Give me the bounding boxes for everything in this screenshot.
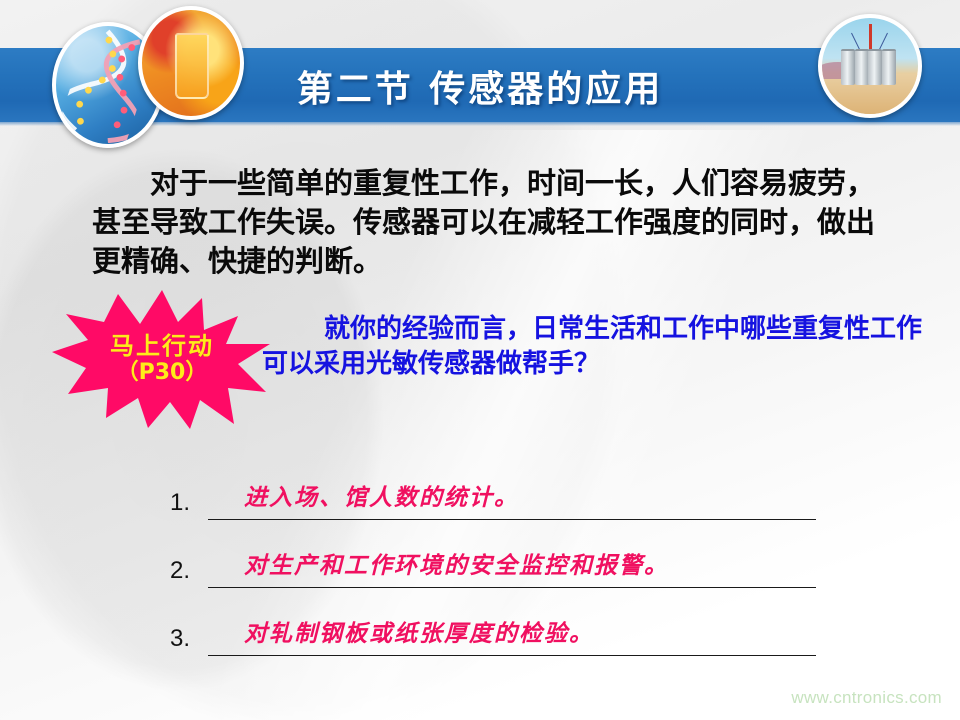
answer-text-2: 对生产和工作环境的安全监控和报警。 xyxy=(244,546,669,580)
silo-tank-1 xyxy=(841,49,855,85)
answer-underline-3 xyxy=(208,655,816,656)
answer-list: 1. 进入场、馆人数的统计。 2. 对生产和工作环境的安全监控和报警。 3. 对… xyxy=(170,452,870,656)
answer-number-2: 2. xyxy=(170,557,190,585)
callout-text: 马上行动 （P30） xyxy=(52,288,272,430)
answer-row-2: 2. 对生产和工作环境的安全监控和报警。 xyxy=(170,520,870,588)
question-text: 就你的经验而言，日常生活和工作中哪些重复性工作可以采用光敏传感器做帮手？ xyxy=(262,312,922,382)
callout-starburst: 马上行动 （P30） xyxy=(52,288,272,430)
callout-line-1: 马上行动 xyxy=(110,332,214,360)
answer-row-1: 1. 进入场、馆人数的统计。 xyxy=(170,452,870,520)
juice-glass-shape xyxy=(175,33,208,98)
answer-text-1: 进入场、馆人数的统计。 xyxy=(244,478,519,512)
answer-row-3: 3. 对轧制钢板或纸张厚度的检验。 xyxy=(170,588,870,656)
site-watermark: www.cntronics.com xyxy=(791,688,942,708)
answer-text-3: 对轧制钢板或纸张厚度的检验。 xyxy=(244,614,594,648)
fruit-juice-image xyxy=(138,6,244,120)
silo-tank-3 xyxy=(868,49,882,85)
answer-number-3: 3. xyxy=(170,625,190,653)
silo-tank-2 xyxy=(855,49,869,85)
callout-line-2: （P30） xyxy=(117,360,208,386)
silo-tank-4 xyxy=(882,49,896,85)
slide-canvas: 第二节 传感器的应用 xyxy=(0,0,960,720)
grain-silo-image xyxy=(818,14,922,118)
body-paragraph: 对于一些简单的重复性工作，时间一长，人们容易疲劳，甚至导致工作失误。传感器可以在… xyxy=(92,164,882,281)
answer-number-1: 1. xyxy=(170,489,190,517)
